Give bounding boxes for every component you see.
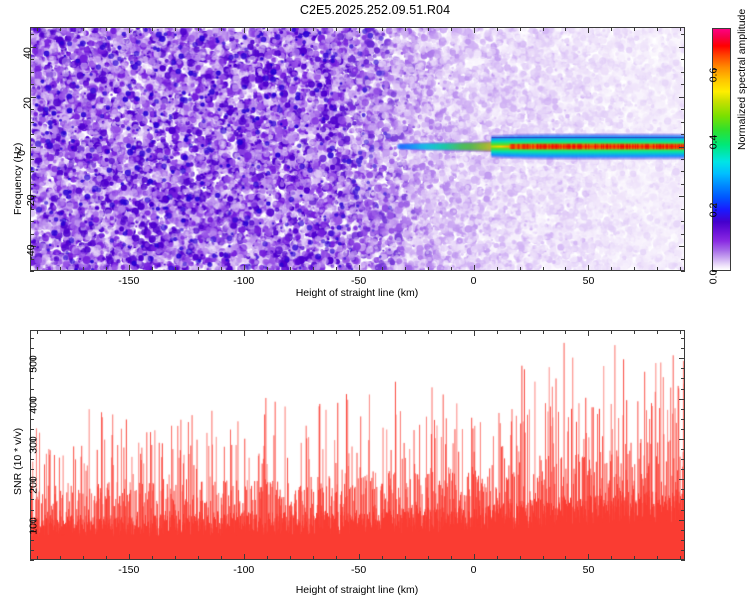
minor-tick-top [497,330,498,334]
x-tick-label: -100 [233,564,254,576]
minor-tick [30,550,34,551]
x-tick-label: 0 [471,564,477,576]
minor-tick-right [681,479,685,480]
minor-tick-top [267,27,268,31]
minor-tick [30,171,34,172]
colorbar-tick-label: 0.0 [708,270,720,285]
minor-tick-top [152,330,153,334]
minor-tick-right [681,159,685,160]
minor-tick-right [681,469,685,470]
minor-tick-right [681,338,685,339]
minor-tick-top [680,27,681,31]
minor-tick [106,556,107,560]
minor-tick-right [681,409,685,410]
minor-tick [30,159,34,160]
minor-tick-top [382,330,383,334]
minor-tick-top [175,330,176,334]
minor-tick [428,556,429,560]
minor-tick-top [244,27,245,31]
minor-tick [30,338,34,339]
minor-tick-right [681,560,685,561]
minor-tick [497,267,498,271]
minor-tick [30,429,34,430]
minor-tick-top [60,330,61,334]
minor-tick [152,267,153,271]
minor-tick-right [681,134,685,135]
minor-tick-top [588,27,589,31]
minor-tick-top [60,27,61,31]
minor-tick [267,556,268,560]
minor-tick-top [83,27,84,31]
colorbar-tick-label: 0.6 [708,67,720,82]
minor-tick-right [681,171,685,172]
minor-tick-right [681,97,685,98]
minor-tick-top [611,27,612,31]
minor-tick-right [681,84,685,85]
minor-tick [37,267,38,271]
minor-tick [198,267,199,271]
snr-x-axis-title: Height of straight line (km) [296,584,419,596]
minor-tick-top [83,330,84,334]
minor-tick-right [681,196,685,197]
minor-tick [30,109,34,110]
minor-tick [382,556,383,560]
colorbar-axis-title: Normalized spectral amplitude [736,9,748,150]
minor-tick-right [681,109,685,110]
minor-tick-right [681,550,685,551]
minor-tick-right [681,122,685,123]
x-tick-label: 50 [583,275,595,287]
spectrogram-plot-area [31,28,684,270]
minor-tick-right [681,368,685,369]
minor-tick-top [565,27,566,31]
major-tick [129,265,130,271]
minor-tick-top [565,330,566,334]
minor-tick [657,556,658,560]
minor-tick-top [634,330,635,334]
minor-tick-top [267,330,268,334]
spectrogram-y-axis-title: Frequency (Hz) [12,143,24,215]
minor-tick-right [681,209,685,210]
minor-tick [30,499,34,500]
minor-tick-right [681,459,685,460]
x-tick-label: -50 [351,275,366,287]
minor-tick [30,84,34,85]
x-tick-label: 50 [583,564,595,576]
minor-tick [83,267,84,271]
minor-tick-top [382,27,383,31]
y-tick-label: 500 [28,355,40,373]
minor-tick-top [428,27,429,31]
minor-tick-top [175,27,176,31]
minor-tick-right [681,449,685,450]
minor-tick-top [198,330,199,334]
minor-tick-right [681,419,685,420]
y-tick-label: 300 [28,436,40,454]
minor-tick-top [198,27,199,31]
minor-tick [267,267,268,271]
minor-tick-top [129,27,130,31]
minor-tick-top [405,27,406,31]
minor-tick [30,348,34,349]
minor-tick [30,234,34,235]
minor-tick-top [152,27,153,31]
minor-tick-right [681,221,685,222]
minor-tick [30,34,34,35]
minor-tick [30,469,34,470]
minor-tick [30,459,34,460]
minor-tick [60,267,61,271]
minor-tick-right [681,271,685,272]
minor-tick [221,556,222,560]
minor-tick [405,267,406,271]
minor-tick-top [37,330,38,334]
minor-tick-top [520,27,521,31]
minor-tick [520,556,521,560]
minor-tick [290,556,291,560]
minor-tick-right [681,540,685,541]
x-tick-label: -50 [351,564,366,576]
y-tick-label: -20 [25,195,37,210]
minor-tick [30,134,34,135]
minor-tick-right [681,378,685,379]
minor-tick [520,267,521,271]
minor-tick-top [474,27,475,31]
minor-tick-top [497,27,498,31]
minor-tick [175,556,176,560]
minor-tick [382,267,383,271]
minor-tick-top [428,330,429,334]
y-tick-label: -40 [25,245,37,260]
minor-tick [60,556,61,560]
minor-tick-top [106,27,107,31]
minor-tick-top [657,330,658,334]
minor-tick-top [106,330,107,334]
minor-tick [30,389,34,390]
major-tick [474,265,475,271]
spectrogram-x-axis-title: Height of straight line (km) [296,287,419,299]
minor-tick [290,267,291,271]
minor-tick-top [474,330,475,334]
minor-tick [543,267,544,271]
figure-canvas: C2E5.2025.252.09.51.R04 -150-100-50050 4… [0,0,750,600]
minor-tick-top [336,27,337,31]
minor-tick-right [681,72,685,73]
minor-tick-top [634,27,635,31]
x-tick-label: -150 [118,275,139,287]
minor-tick [30,510,34,511]
minor-tick [152,556,153,560]
minor-tick-top [290,330,291,334]
minor-tick [405,556,406,560]
minor-tick-top [359,330,360,334]
minor-tick-right [681,246,685,247]
minor-tick [83,556,84,560]
minor-tick [106,267,107,271]
minor-tick-top [588,330,589,334]
minor-tick [30,560,34,561]
colorbar-tick-label: 0.4 [708,135,720,150]
minor-tick [313,556,314,560]
snr-y-axis-title: SNR (10 * v/v) [12,428,24,495]
minor-tick [30,378,34,379]
minor-tick [198,556,199,560]
minor-tick [565,267,566,271]
minor-tick-right [681,510,685,511]
minor-tick-top [543,330,544,334]
minor-tick-top [611,330,612,334]
meteor-trail-layer [31,28,684,270]
minor-tick-top [451,330,452,334]
minor-tick-right [681,147,685,148]
minor-tick-right [681,439,685,440]
minor-tick-top [221,27,222,31]
minor-tick [657,267,658,271]
minor-tick-top [336,330,337,334]
minor-tick-top [313,330,314,334]
minor-tick [30,271,34,272]
minor-tick [451,267,452,271]
minor-tick-top [221,330,222,334]
minor-tick-top [359,27,360,31]
minor-tick [543,556,544,560]
minor-tick [37,556,38,560]
minor-tick-top [520,330,521,334]
minor-tick-right [681,530,685,531]
minor-tick-right [681,47,685,48]
minor-tick-top [405,330,406,334]
minor-tick [30,419,34,420]
minor-tick [428,267,429,271]
major-tick [588,265,589,271]
minor-tick [565,556,566,560]
y-tick-label: 400 [28,396,40,414]
y-tick-label: 100 [28,517,40,535]
minor-tick-right [681,429,685,430]
x-tick-label: -100 [233,275,254,287]
minor-tick-right [681,234,685,235]
major-tick [244,265,245,271]
minor-tick [336,267,337,271]
snr-trace-layer [31,331,684,559]
minor-tick-right [681,184,685,185]
minor-tick [313,267,314,271]
minor-tick-top [657,27,658,31]
minor-tick-top [129,330,130,334]
minor-tick-right [681,358,685,359]
spectrogram-panel [30,27,685,271]
minor-tick [611,267,612,271]
major-tick [474,554,475,560]
colorbar [712,28,731,271]
minor-tick [30,122,34,123]
x-tick-label: -150 [118,564,139,576]
minor-tick-top [313,27,314,31]
minor-tick [175,267,176,271]
snr-plot-area [31,331,684,559]
snr-panel [30,330,685,560]
major-tick [359,265,360,271]
minor-tick-right [681,259,685,260]
minor-tick-right [681,399,685,400]
minor-tick-top [37,27,38,31]
minor-tick-right [681,520,685,521]
major-tick [244,554,245,560]
minor-tick [30,184,34,185]
minor-tick-right [681,389,685,390]
minor-tick-top [543,27,544,31]
minor-tick-right [681,59,685,60]
minor-tick-top [244,330,245,334]
major-tick [129,554,130,560]
minor-tick-top [451,27,452,31]
minor-tick-top [680,330,681,334]
figure-title: C2E5.2025.252.09.51.R04 [0,3,750,17]
minor-tick [30,540,34,541]
major-tick [588,554,589,560]
colorbar-tick-label: 0.2 [708,202,720,217]
y-tick-label: 200 [28,477,40,495]
minor-tick [30,72,34,73]
minor-tick-right [681,489,685,490]
minor-tick-top [290,27,291,31]
minor-tick [451,556,452,560]
minor-tick [336,556,337,560]
y-tick-label: 40 [22,47,34,59]
minor-tick [497,556,498,560]
minor-tick [30,221,34,222]
minor-tick-right [681,499,685,500]
minor-tick [611,556,612,560]
y-tick-label: 20 [22,97,34,109]
major-tick [359,554,360,560]
minor-tick [221,267,222,271]
x-tick-label: 0 [471,275,477,287]
minor-tick [634,556,635,560]
minor-tick [634,267,635,271]
major-tick [30,147,36,148]
minor-tick-right [681,34,685,35]
minor-tick [30,59,34,60]
minor-tick-right [681,348,685,349]
